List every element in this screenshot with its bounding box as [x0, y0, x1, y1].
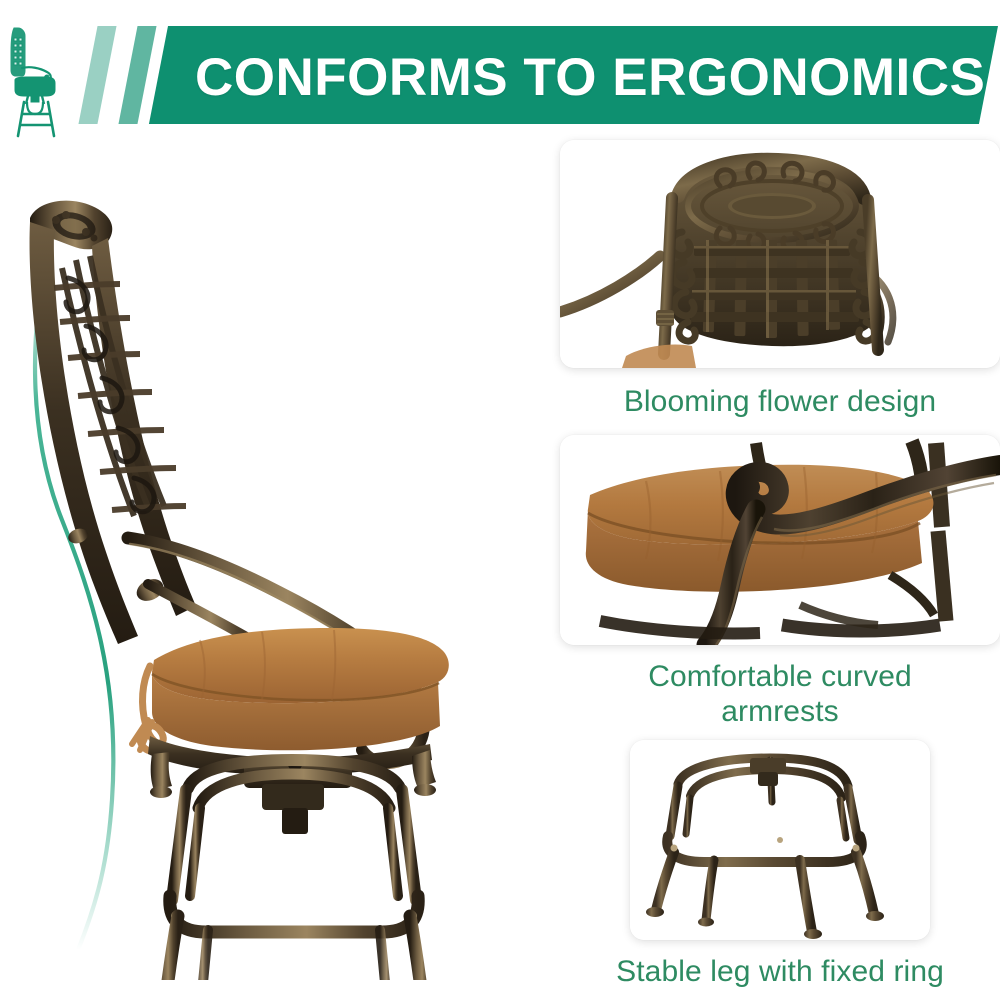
backrest-group [30, 201, 196, 644]
banner-stripe-1 [78, 26, 116, 124]
feature-item-stable-leg: Stable leg with fixed ring [560, 740, 1000, 990]
infographic-page: CONFORMS TO ERGONOMICS [0, 0, 1000, 1000]
page-title: CONFORMS TO ERGONOMICS [195, 44, 985, 110]
seat-cushion-group [132, 628, 449, 752]
feature-item-curved-armrests: Comfortable curved armrests [560, 435, 1000, 735]
feature-caption: Comfortable curved armrests [560, 659, 1000, 730]
cushion-and-curved-armrest-photo[interactable] [560, 435, 1000, 645]
bar-stool-chair-icon [2, 26, 66, 138]
feature-caption: Stable leg with fixed ring [560, 954, 1000, 989]
chair-back-flower-lattice-photo[interactable] [560, 140, 1000, 368]
hero-product-image [0, 160, 540, 980]
feature-caption: Blooming flower design [560, 384, 1000, 419]
feature-item-blooming-flower: Blooming flower design [560, 140, 1000, 430]
header-banner: CONFORMS TO ERGONOMICS [0, 22, 1000, 142]
chair-base-with-footrest-ring-photo[interactable] [630, 740, 930, 940]
feature-list: Blooming flower design [560, 140, 1000, 990]
